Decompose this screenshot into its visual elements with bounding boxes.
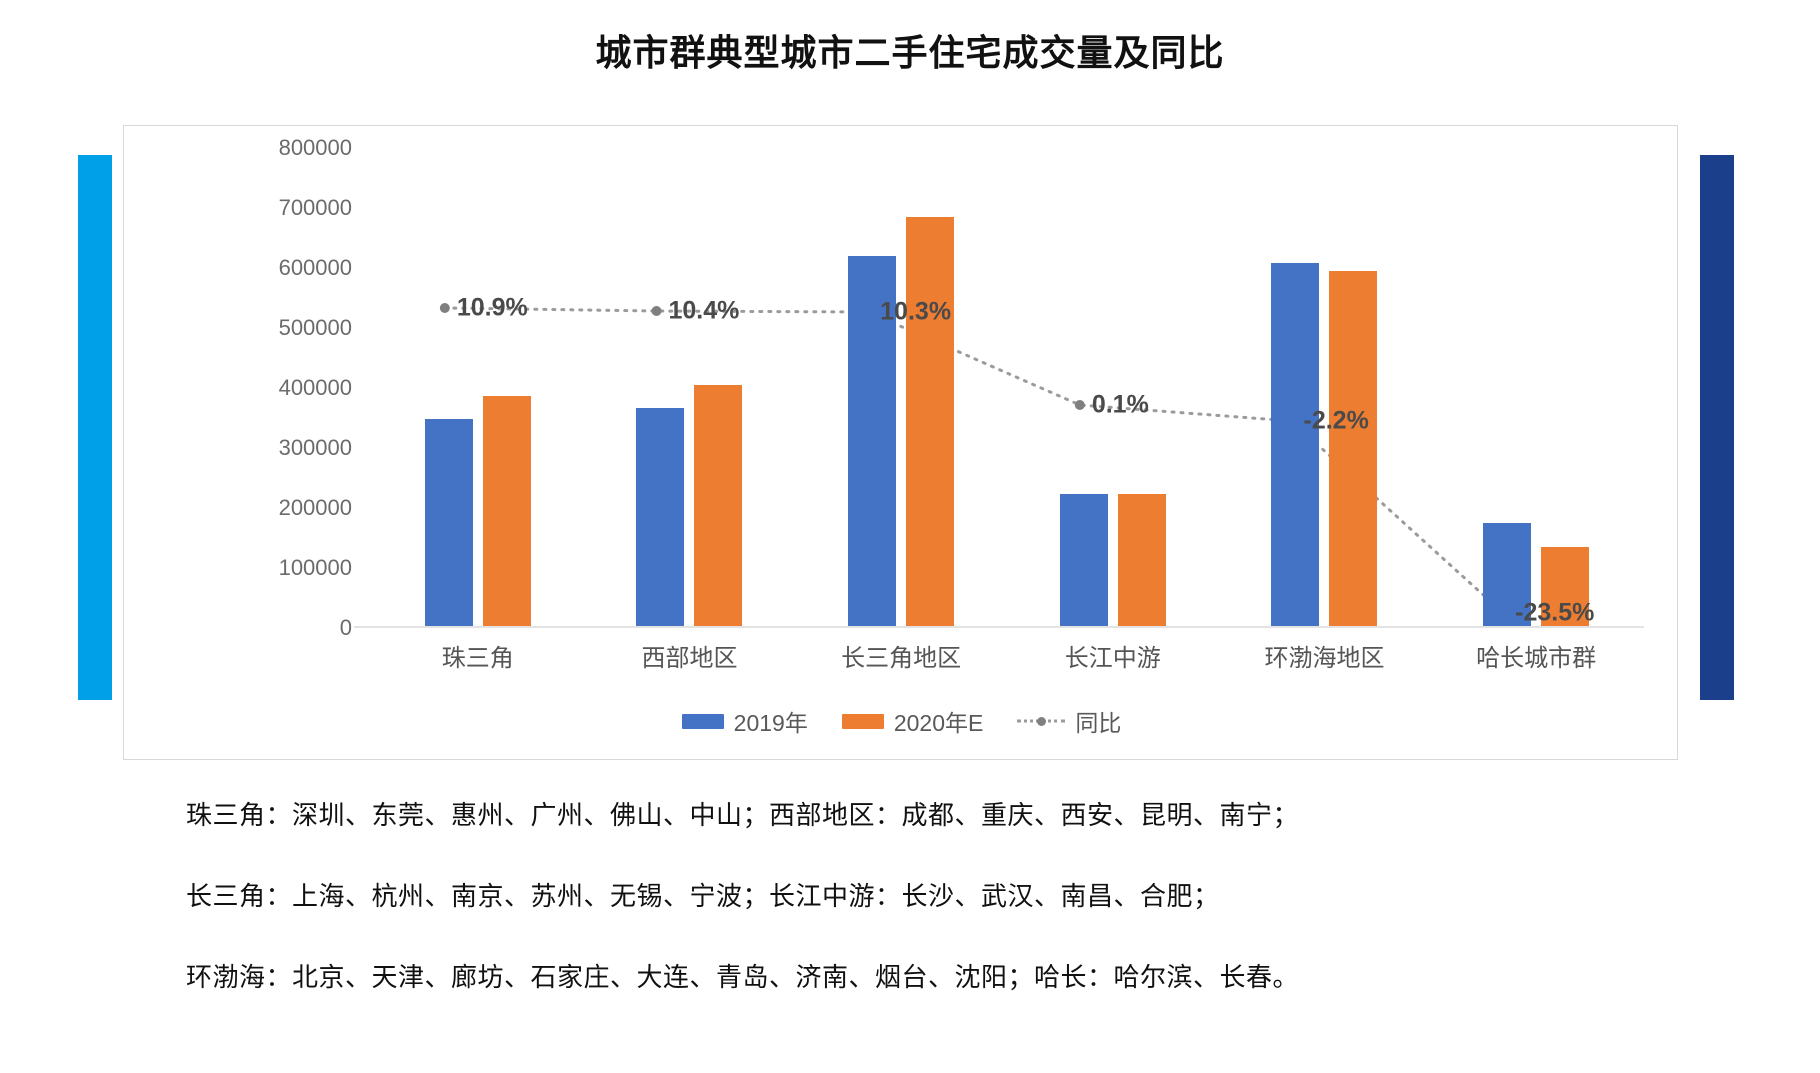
- bar-group: [1219, 148, 1431, 626]
- footnote-line: 珠三角：深圳、东莞、惠州、广州、佛山、中山；西部地区：成都、重庆、西安、昆明、南…: [186, 795, 1686, 832]
- legend-swatch-icon: [682, 714, 724, 729]
- footnote-line: 长三角：上海、杭州、南京、苏州、无锡、宁波；长江中游：长沙、武汉、南昌、合肥；: [186, 876, 1686, 913]
- y-axis-tick-label: 500000: [279, 315, 352, 341]
- bar-2020e[interactable]: [906, 217, 954, 626]
- x-axis-tick-label: 珠三角: [372, 638, 584, 673]
- bar-group: [1430, 148, 1642, 626]
- x-axis: 珠三角西部地区长三角地区长江中游环渤海地区哈长城市群: [372, 638, 1642, 682]
- yoy-data-label: 10.3%: [880, 298, 951, 327]
- legend-swatch-icon: [842, 714, 884, 729]
- x-axis-tick-label: 长江中游: [1007, 638, 1219, 673]
- decorative-bar-right: [1700, 155, 1734, 700]
- bar-group: [372, 148, 584, 626]
- yoy-data-label: 10.9%: [457, 294, 528, 323]
- bar-group: [1007, 148, 1219, 626]
- y-axis-tick-label: 0: [340, 615, 352, 641]
- legend-item[interactable]: 同比: [1017, 704, 1121, 738]
- axis-baseline: [354, 626, 1644, 628]
- bar-2020e[interactable]: [483, 396, 531, 626]
- y-axis-tick-label: 800000: [279, 135, 352, 161]
- yoy-data-label: -2.2%: [1304, 407, 1369, 436]
- y-axis-tick-label: 600000: [279, 255, 352, 281]
- bar-group: [795, 148, 1007, 626]
- bar-2019[interactable]: [1271, 263, 1319, 626]
- bar-2020e[interactable]: [694, 385, 742, 626]
- legend-item[interactable]: 2019年: [682, 704, 808, 738]
- legend-label: 2019年: [734, 704, 808, 738]
- legend-item[interactable]: 2020年E: [842, 704, 984, 738]
- x-axis-tick-label: 西部地区: [584, 638, 796, 673]
- plot-area: 10.9%10.4%10.3%0.1%-2.2%-23.5%: [372, 148, 1642, 628]
- chart-card: 8000007000006000005000004000003000002000…: [123, 125, 1678, 760]
- footnote-line: 环渤海：北京、天津、廊坊、石家庄、大连、青岛、济南、烟台、沈阳；哈长：哈尔滨、长…: [186, 957, 1686, 994]
- chart-legend: 2019年2020年E同比: [124, 696, 1679, 746]
- y-axis-tick-label: 400000: [279, 375, 352, 401]
- bar-2019[interactable]: [425, 419, 473, 626]
- x-axis-tick-label: 环渤海地区: [1219, 638, 1431, 673]
- bar-2019[interactable]: [1060, 494, 1108, 626]
- yoy-data-label: 0.1%: [1092, 391, 1149, 420]
- page-title: 城市群典型城市二手住宅成交量及同比: [0, 24, 1820, 76]
- footnotes: 珠三角：深圳、东莞、惠州、广州、佛山、中山；西部地区：成都、重庆、西安、昆明、南…: [186, 795, 1686, 1038]
- yoy-data-label: 10.4%: [669, 297, 740, 326]
- yoy-data-label: -23.5%: [1515, 599, 1594, 628]
- legend-dotted-line-icon: [1017, 714, 1065, 728]
- decorative-bar-left: [78, 155, 112, 700]
- legend-label: 2020年E: [894, 704, 984, 738]
- bar-group: [584, 148, 796, 626]
- y-axis-tick-label: 300000: [279, 435, 352, 461]
- legend-label: 同比: [1075, 704, 1121, 738]
- y-axis-tick-label: 700000: [279, 195, 352, 221]
- bar-2019[interactable]: [636, 408, 684, 626]
- bar-2020e[interactable]: [1118, 494, 1166, 626]
- y-axis-tick-label: 200000: [279, 495, 352, 521]
- y-axis-tick-label: 100000: [279, 555, 352, 581]
- bar-2020e[interactable]: [1329, 271, 1377, 626]
- x-axis-tick-label: 长三角地区: [795, 638, 1007, 673]
- y-axis: 8000007000006000005000004000003000002000…: [144, 148, 352, 628]
- x-axis-tick-label: 哈长城市群: [1430, 638, 1642, 673]
- plot-wrapper: 8000007000006000005000004000003000002000…: [124, 126, 1679, 701]
